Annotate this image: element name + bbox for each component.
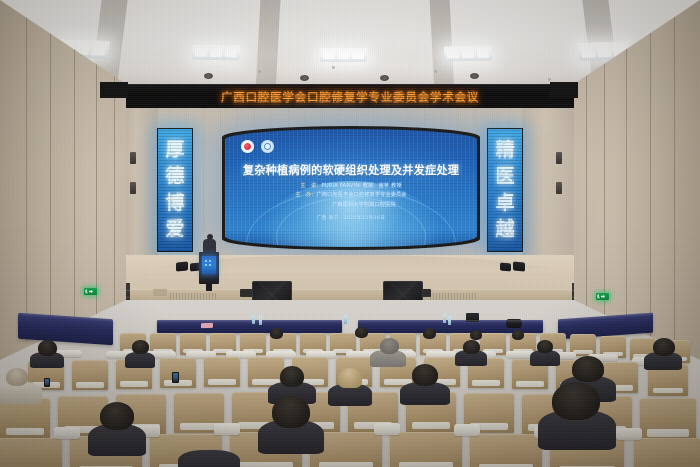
ceiling-speaker xyxy=(470,73,479,79)
ceiling-speaker xyxy=(204,73,213,79)
ceiling-acoustic-strip xyxy=(256,0,281,92)
audience-member xyxy=(272,396,310,428)
screen-organizer-label: 主 办： xyxy=(295,192,316,198)
seat-armrest xyxy=(616,428,642,440)
ceiling-sensor xyxy=(258,70,261,73)
screen-organizer-row: 主 办：广西口腔医学会口腔修复学专业委员会 xyxy=(225,191,477,200)
audience-member xyxy=(470,330,482,340)
water-bottle xyxy=(448,317,451,325)
list-item[interactable] xyxy=(204,357,240,387)
left-led-char-3: 博 xyxy=(165,194,184,213)
screen-meta-block: 主 讲：PURIA PARVINI 教授、宫苹 教授 主 办：广西口腔医学会口腔… xyxy=(225,182,477,210)
audience-member xyxy=(6,368,28,386)
lectern-display xyxy=(202,256,216,274)
presenter-at-lectern xyxy=(203,234,216,254)
audience-member xyxy=(270,328,283,339)
ceiling-light-panel xyxy=(320,48,367,62)
ceiling-speaker xyxy=(300,75,309,81)
audience-member xyxy=(512,330,524,340)
audience-shoulders xyxy=(178,450,240,467)
audience-member xyxy=(355,327,368,338)
wall-speaker xyxy=(130,152,136,164)
list-item[interactable] xyxy=(470,434,542,467)
stage-floor-monitor xyxy=(176,261,188,271)
laptop xyxy=(466,313,479,322)
stage-floor-monitor xyxy=(500,263,511,272)
list-item[interactable] xyxy=(0,398,50,438)
main-screen-bezel: 复杂种植病例的软硬组织处理及并发症处理 主 讲：PURIA PARVINI 教授… xyxy=(222,126,480,250)
seat-armrest xyxy=(374,423,400,435)
led-banner: 广西口腔医学会口腔修复学专业委员会学术会议 xyxy=(122,84,578,108)
screen-date-line: 广西 南宁 2025年12月26日 xyxy=(225,215,477,221)
left-led-char-4: 爱 xyxy=(165,220,184,239)
ceiling-sensor xyxy=(548,78,551,81)
left-led-char-1: 厚 xyxy=(165,141,184,160)
left-led-panel: 厚 德 博 爱 xyxy=(157,128,193,252)
seat-armrest xyxy=(54,427,80,439)
audience-member xyxy=(572,356,604,382)
audience-member xyxy=(463,340,480,354)
wall-speaker xyxy=(556,182,562,194)
association-logo-icon xyxy=(241,140,254,153)
hospital-logo-icon xyxy=(261,140,274,153)
audience-member xyxy=(653,338,675,356)
audience-member xyxy=(100,402,134,430)
lectern xyxy=(199,252,219,284)
right-led-char-3: 卓 xyxy=(495,194,514,213)
left-led-char-2: 德 xyxy=(165,167,184,186)
left-wall-vent xyxy=(100,82,128,98)
screen-speaker-label: 主 讲： xyxy=(300,183,321,189)
audience-member xyxy=(380,338,399,354)
ceiling-light-panel xyxy=(191,45,240,61)
water-bottle xyxy=(344,316,347,324)
ceiling-light-panel xyxy=(443,46,492,62)
audience-member xyxy=(132,340,149,354)
water-bottle xyxy=(443,315,446,323)
water-bottle xyxy=(259,317,262,325)
stage-floor-monitor xyxy=(513,261,525,271)
right-led-char-4: 越 xyxy=(495,220,514,239)
screen-organizer-line1: 广西口腔医学会口腔修复学专业委员会 xyxy=(317,192,407,198)
water-bottle xyxy=(252,316,255,324)
list-item[interactable] xyxy=(72,360,108,390)
wall-speaker xyxy=(130,182,136,194)
audience-member xyxy=(412,364,438,386)
screen-logo-group xyxy=(241,140,274,153)
audience-member xyxy=(423,328,436,339)
smartphone xyxy=(172,372,179,383)
screen-speaker-row: 主 讲：PURIA PARVINI 教授、宫苹 教授 xyxy=(225,182,477,191)
right-led-panel: 精 医 卓 越 xyxy=(487,128,523,252)
list-item[interactable] xyxy=(640,398,696,440)
screen-organizer-row-2: 广西医科大学附属口腔医院 xyxy=(225,201,477,210)
right-led-char-1: 精 xyxy=(495,141,514,160)
main-led-screen: 复杂种植病例的软硬组织处理及并发症处理 主 讲：PURIA PARVINI 教授… xyxy=(225,129,477,247)
exit-sign-left xyxy=(84,288,97,295)
right-wall-vent xyxy=(550,82,578,98)
ceiling-sensor xyxy=(434,70,437,73)
ceiling-speaker xyxy=(380,75,389,81)
list-item[interactable] xyxy=(390,432,462,467)
stage-floor-panel xyxy=(153,289,167,296)
name-card xyxy=(201,323,213,328)
bag xyxy=(506,319,522,328)
audience-member xyxy=(552,382,600,420)
audience-shoulders xyxy=(125,352,155,368)
audience-member xyxy=(280,366,304,387)
vip-table xyxy=(157,320,342,333)
led-banner-text: 广西口腔医学会口腔修复学专业委员会学术会议 xyxy=(221,89,479,105)
conference-hall-photo: 广西口腔医学会口腔修复学专业委员会学术会议 厚 德 博 爱 精 医 卓 越 复杂… xyxy=(0,0,700,467)
ceiling-sensor xyxy=(332,66,335,69)
list-item[interactable] xyxy=(634,438,700,467)
screen-speaker-value: PURIA PARVINI 教授、宫苹 教授 xyxy=(322,183,402,189)
audience-member-with-cap xyxy=(338,368,362,388)
wall-speaker xyxy=(556,152,562,164)
seat-armrest xyxy=(454,424,480,436)
exit-sign-right xyxy=(596,293,609,300)
audience-member xyxy=(38,340,57,356)
smartphone xyxy=(44,378,50,387)
screen-organizer-line2: 广西医科大学附属口腔医院 xyxy=(332,202,396,208)
list-item[interactable] xyxy=(0,438,62,467)
seat-armrest xyxy=(214,423,240,435)
right-led-char-2: 医 xyxy=(495,167,514,186)
audience-member xyxy=(537,340,553,353)
screen-title: 复杂种植病例的软硬组织处理及并发症处理 xyxy=(225,162,477,178)
